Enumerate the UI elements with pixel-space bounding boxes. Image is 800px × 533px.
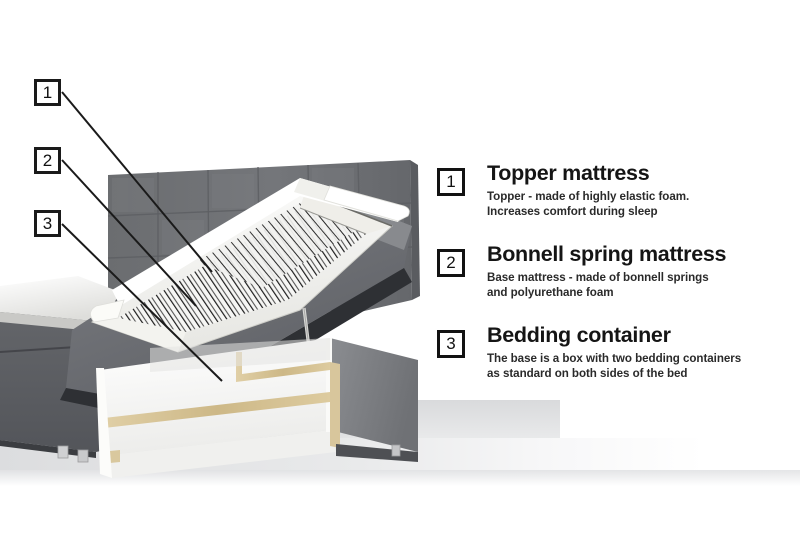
legend-title-1: Topper mattress (487, 160, 689, 186)
leader-lines (0, 0, 430, 500)
legend-number-1: 1 (437, 168, 465, 196)
callout-chip-1[interactable]: 1 (34, 79, 61, 106)
legend-description-3: The base is a box with two bedding conta… (487, 352, 741, 381)
leader-line-2 (62, 160, 196, 306)
legend-description-1: Topper - made of highly elastic foam. In… (487, 190, 689, 219)
legend-item-bedding-container: 3 Bedding container The base is a box wi… (437, 322, 793, 381)
legend-list: 1 Topper mattress Topper - made of highl… (437, 160, 793, 404)
legend-description-2: Base mattress - made of bonnell springs … (487, 271, 726, 300)
legend-item-topper-mattress: 1 Topper mattress Topper - made of highl… (437, 160, 793, 219)
legend-item-bonnell-spring-mattress: 2 Bonnell spring mattress Base mattress … (437, 241, 793, 300)
legend-number-2: 2 (437, 249, 465, 277)
legend-number-3: 3 (437, 330, 465, 358)
callout-chip-2[interactable]: 2 (34, 147, 61, 174)
legend-body-3: Bedding container The base is a box with… (487, 322, 741, 381)
legend-body-2: Bonnell spring mattress Base mattress - … (487, 241, 726, 300)
legend-body-1: Topper mattress Topper - made of highly … (487, 160, 689, 219)
diagram-page: 1 2 3 1 Topper mattress Topper - made of… (0, 0, 800, 533)
callout-chip-3[interactable]: 3 (34, 210, 61, 237)
legend-title-3: Bedding container (487, 322, 741, 348)
legend-title-2: Bonnell spring mattress (487, 241, 726, 267)
